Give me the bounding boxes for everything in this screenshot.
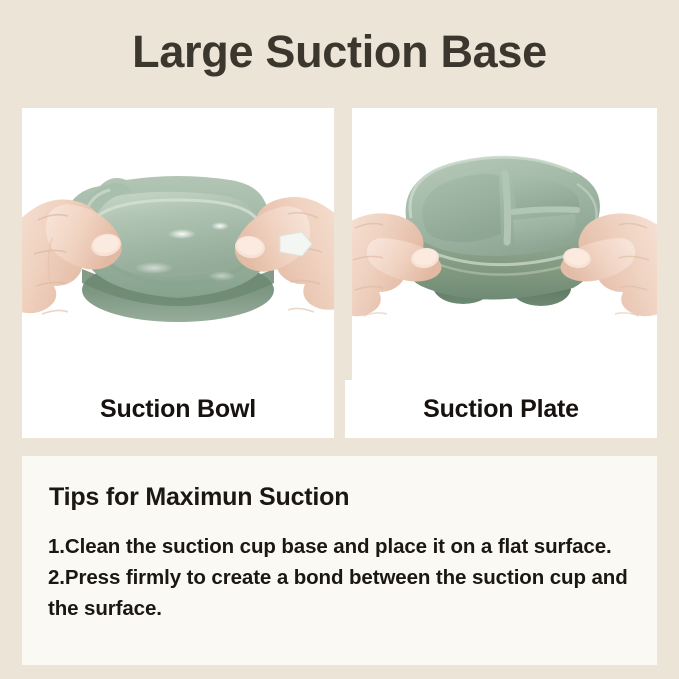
suction-bowl-illustration [22,108,334,380]
tips-step-1: 1.Clean the suction cup base and place i… [48,531,638,562]
suction-plate-photo [345,108,657,380]
tips-heading: Tips for Maximun Suction [49,483,349,512]
suction-bowl-photo [22,108,334,380]
product-cards-row: Suction Bowl [22,108,657,438]
tips-panel: Tips for Maximun Suction 1.Clean the suc… [22,456,657,665]
caption-suction-bowl: Suction Bowl [22,380,334,438]
suction-plate-illustration [345,108,657,380]
tips-step-2: 2.Press firmly to create a bond between … [48,562,638,624]
infographic-page: Large Suction Base [0,0,679,679]
product-card-bowl: Suction Bowl [22,108,334,438]
tips-steps-list: 1.Clean the suction cup base and place i… [48,531,638,624]
caption-suction-plate: Suction Plate [345,380,657,438]
product-card-plate: Suction Plate [345,108,657,438]
page-title: Large Suction Base [0,24,679,80]
